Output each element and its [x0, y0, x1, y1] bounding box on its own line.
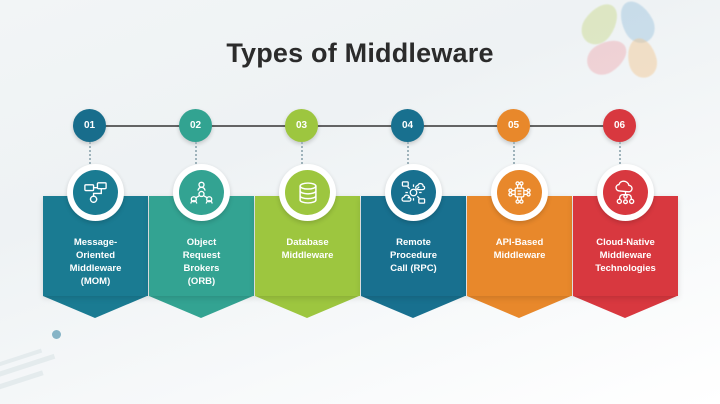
leader-line-05	[513, 142, 515, 164]
timeline-node-04-label: 04	[402, 120, 413, 131]
banner-tail-04	[361, 296, 465, 318]
api-nodes-icon	[506, 179, 533, 206]
step-badge-01[interactable]	[67, 164, 124, 221]
step-label-04: Remote Procedure Call (RPC)	[367, 236, 460, 275]
object-broker-icon	[188, 179, 215, 206]
rpc-network-icon	[400, 179, 427, 206]
step-label-06: Cloud-Native Middleware Technologies	[579, 236, 672, 275]
slide-canvas: Types of Middleware 01 Message- Oriented…	[0, 0, 720, 404]
corner-dot-icon	[52, 330, 61, 339]
leader-line-02	[195, 142, 197, 164]
timeline-node-06[interactable]: 06	[603, 109, 636, 142]
timeline-node-04[interactable]: 04	[391, 109, 424, 142]
timeline-rail	[90, 125, 627, 127]
timeline-node-02-label: 02	[190, 120, 201, 131]
banner-tail-03	[255, 296, 359, 318]
step-badge-04[interactable]	[385, 164, 442, 221]
timeline-node-01-label: 01	[84, 120, 95, 131]
banner-tail-01	[43, 296, 147, 318]
banner-tail-02	[149, 296, 253, 318]
step-badge-02[interactable]	[173, 164, 230, 221]
step-label-02: Object Request Brokers (ORB)	[155, 236, 248, 288]
timeline-node-02[interactable]: 02	[179, 109, 212, 142]
step-badge-05[interactable]	[491, 164, 548, 221]
banner-tail-05	[467, 296, 571, 318]
leader-line-06	[619, 142, 621, 164]
page-title: Types of Middleware	[0, 38, 720, 69]
timeline-node-01[interactable]: 01	[73, 109, 106, 142]
step-badge-03[interactable]	[279, 164, 336, 221]
timeline-node-06-label: 06	[614, 120, 625, 131]
message-flow-icon	[82, 179, 109, 206]
timeline-node-05[interactable]: 05	[497, 109, 530, 142]
step-label-05: API-Based Middleware	[473, 236, 566, 262]
leader-line-03	[301, 142, 303, 164]
step-label-01: Message- Oriented Middleware (MOM)	[49, 236, 142, 288]
database-icon	[295, 180, 321, 206]
leader-line-04	[407, 142, 409, 164]
step-badge-06[interactable]	[597, 164, 654, 221]
banner-tail-06	[573, 296, 677, 318]
step-label-03: Database Middleware	[261, 236, 354, 262]
leader-line-01	[89, 142, 91, 164]
timeline-node-05-label: 05	[508, 120, 519, 131]
timeline-node-03[interactable]: 03	[285, 109, 318, 142]
timeline-node-03-label: 03	[296, 120, 307, 131]
cloud-network-icon	[612, 179, 639, 206]
